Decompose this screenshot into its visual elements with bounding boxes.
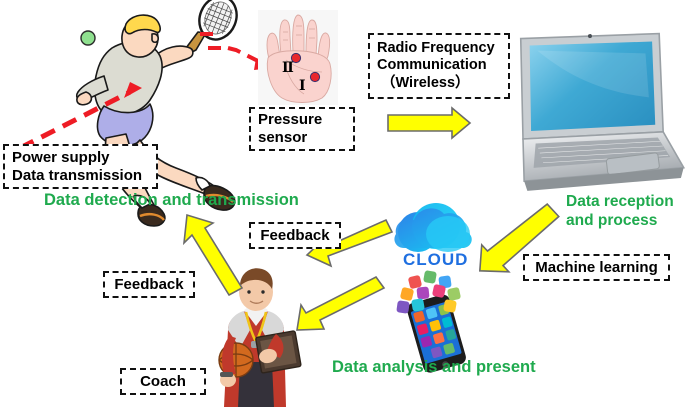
caption-data-analysis: Data analysis and present <box>332 358 536 377</box>
radio-frequency-line1: Radio Frequency <box>377 40 495 57</box>
radio-frequency-label-box: Radio Frequency Communication （Wireless） <box>368 33 510 99</box>
pressure-sensor-label-box: Pressure sensor <box>249 107 355 151</box>
coach-line1: Coach <box>129 373 197 391</box>
power-supply-line2: Data transmission <box>12 167 142 185</box>
feedback-lower-line1: Feedback <box>112 276 186 294</box>
laptop-figure <box>507 21 685 197</box>
cloud-figure <box>394 203 471 252</box>
sensor-label-one: Ⅰ <box>299 78 306 95</box>
machine-learning-label-box: Machine learning <box>523 254 670 281</box>
caption-data-reception-line2: and process <box>566 212 657 230</box>
tennis-ball-icon <box>81 31 95 45</box>
machine-learning-line1: Machine learning <box>532 259 661 277</box>
diagram-canvas: Power supply Data transmission Pressure … <box>0 0 685 407</box>
power-supply-line1: Power supply <box>12 149 110 167</box>
power-supply-label-box: Power supply Data transmission <box>3 144 158 189</box>
caption-data-reception-line1: Data reception <box>566 193 674 211</box>
cloud-wordmark: CLOUD <box>403 250 468 270</box>
radio-frequency-line3: （Wireless） <box>377 75 470 92</box>
feedback-upper-line1: Feedback <box>258 227 332 245</box>
hand-pressure-sensor-figure <box>258 10 338 105</box>
arrow-cloud-to-coach <box>297 277 384 330</box>
pressure-sensor-line1: Pressure <box>258 111 322 129</box>
feedback-lower-label-box: Feedback <box>103 271 195 298</box>
coach-label-box: Coach <box>120 368 206 395</box>
radio-frequency-line2: Communication <box>377 57 487 74</box>
feedback-upper-label-box: Feedback <box>249 222 341 249</box>
caption-data-detection: Data detection and transmission <box>44 191 299 210</box>
red-dashed-arrow-racket-to-hand <box>200 34 272 70</box>
pressure-sensor-line2: sensor <box>258 129 307 147</box>
coach-figure <box>219 268 301 407</box>
sensor-label-two: Ⅱ <box>282 60 294 77</box>
arrow-player-to-laptop <box>388 108 470 138</box>
red-dashed-arrow-to-player-hip <box>20 82 142 148</box>
